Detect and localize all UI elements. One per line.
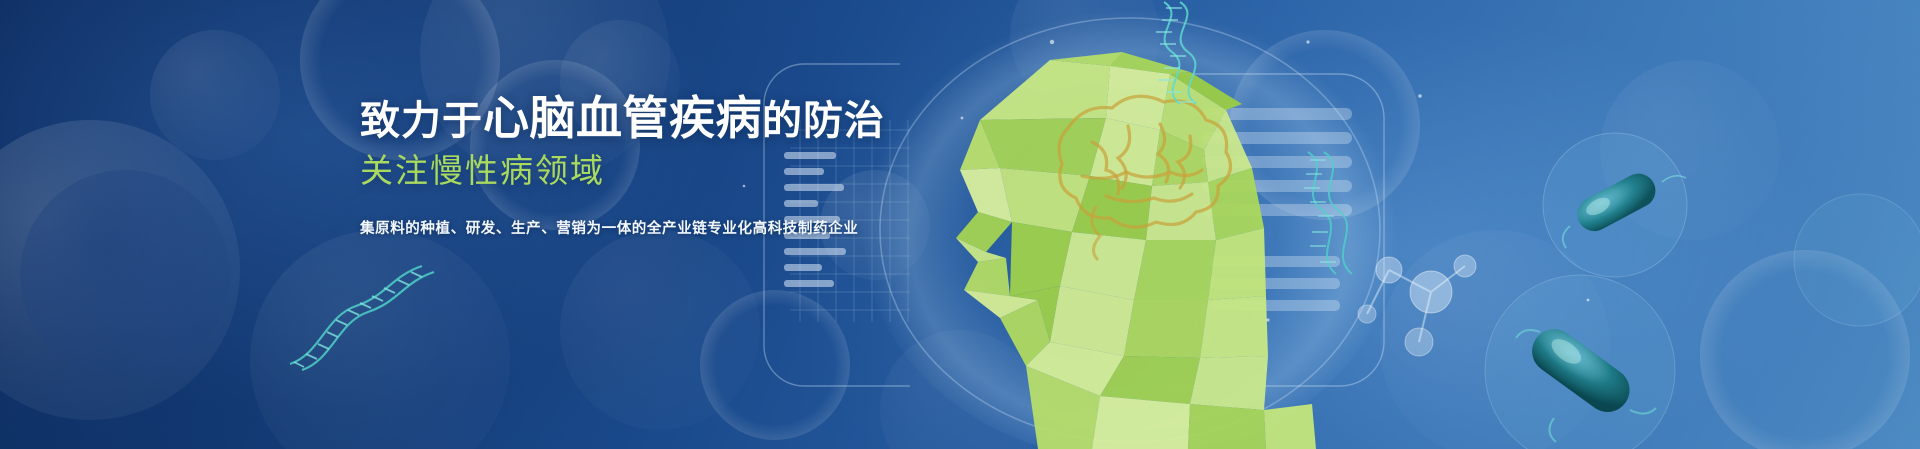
banner-copy: 致力于心脑血管疾病的防治 关注慢性病领域 集原料的种植、研发、生产、营销为一体的… — [360, 96, 1060, 238]
page-title: 致力于心脑血管疾病的防治 — [360, 96, 1060, 143]
molecule-cluster — [1345, 230, 1495, 380]
dna-strand-right — [1290, 150, 1370, 280]
hero-banner: 致力于心脑血管疾病的防治 关注慢性病领域 集原料的种植、研发、生产、营销为一体的… — [0, 0, 1920, 449]
bokeh-circle — [700, 290, 850, 440]
microbe-lower — [1480, 270, 1680, 449]
bokeh-circle — [1380, 230, 1610, 449]
headline-prefix: 致力于 — [360, 99, 483, 143]
brain-stem — [1092, 206, 1100, 260]
headline-emphasis: 心脑血管疾病 — [483, 92, 762, 144]
dna-strand-left — [280, 258, 440, 378]
bokeh-circle — [560, 230, 760, 430]
bokeh-circle — [1010, 0, 1160, 110]
microbe-upper — [1530, 130, 1700, 280]
bokeh-circle — [1130, 290, 1260, 420]
brain-overlay — [1059, 96, 1230, 227]
headline-suffix: 的防治 — [762, 99, 885, 143]
microbe-edge — [1790, 190, 1920, 330]
bokeh-circle — [1700, 250, 1910, 449]
bokeh-circle — [150, 30, 280, 160]
banner-subheading: 关注慢性病领域 — [360, 152, 1060, 190]
banner-tagline: 集原料的种植、研发、生产、营销为一体的全产业链专业化高科技制药企业 — [360, 217, 1060, 238]
bokeh-circle — [0, 120, 240, 420]
bokeh-circle — [250, 230, 510, 449]
bokeh-circle — [1600, 60, 1780, 240]
hud-panel-right — [1140, 70, 1390, 390]
bokeh-circle — [20, 170, 230, 380]
dna-strand-top — [1140, 0, 1220, 110]
bokeh-circle — [880, 330, 1040, 449]
bokeh-circle — [1230, 30, 1420, 220]
